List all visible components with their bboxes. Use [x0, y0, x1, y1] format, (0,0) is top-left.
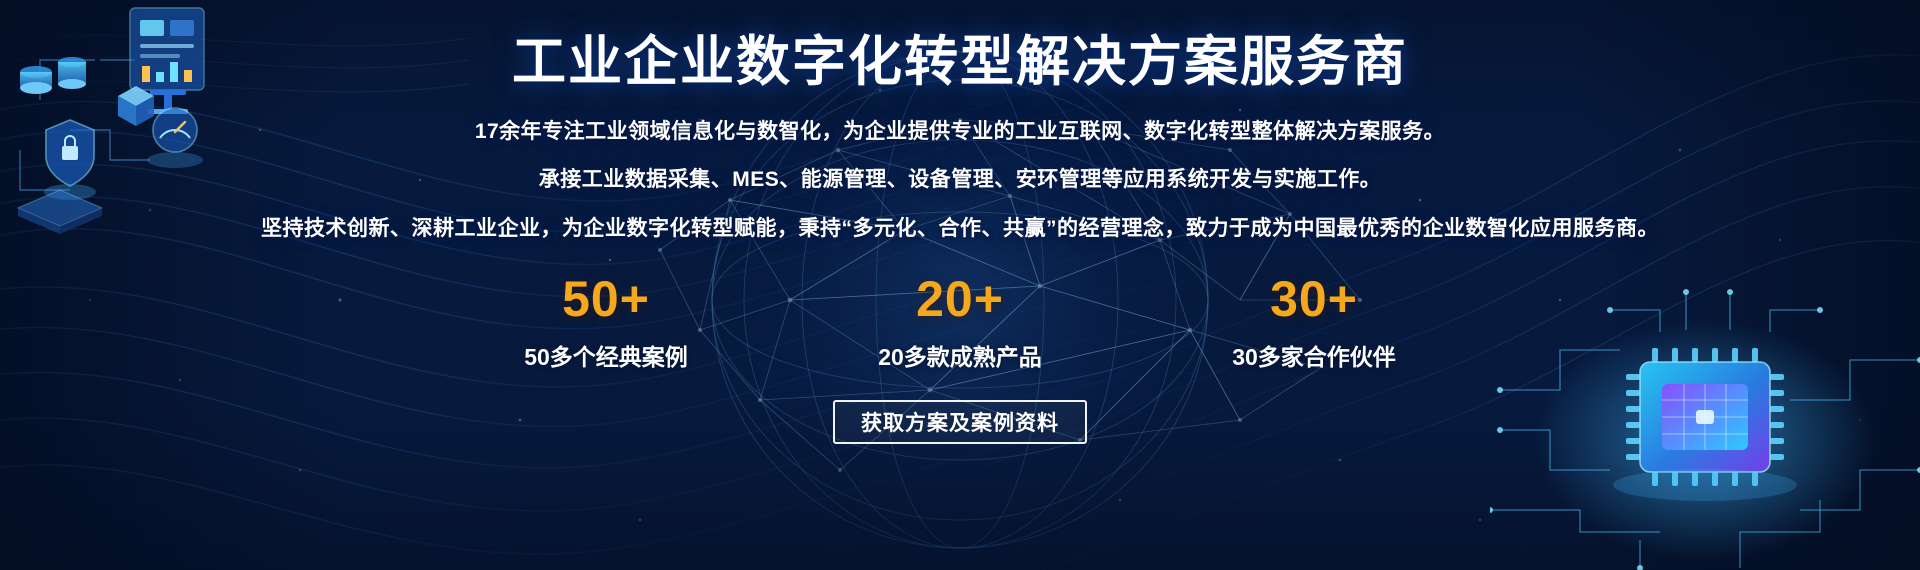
stat-label: 20多款成熟产品 — [878, 338, 1042, 372]
subtitle-line-1: 17余年专注工业领域信息化与数智化，为企业提供专业的工业互联网、数字化转型整体解… — [475, 115, 1445, 145]
stat-label: 30多家合作伙伴 — [1232, 338, 1396, 372]
get-materials-button[interactable]: 获取方案及案例资料 — [833, 400, 1087, 444]
hero-banner: 工业企业数字化转型解决方案服务商 17余年专注工业领域信息化与数智化，为企业提供… — [0, 0, 1920, 570]
stat-label: 50多个经典案例 — [524, 338, 688, 372]
stat-item-products: 20+ 20多款成熟产品 — [850, 274, 1070, 372]
stats-group: 50+ 50多个经典案例 20+ 20多款成熟产品 30+ 30多家合作伙伴 — [496, 274, 1424, 372]
subtitle-line-3: 坚持技术创新、深耕工业企业，为企业数字化转型赋能，秉持“多元化、合作、共赢”的经… — [261, 212, 1659, 242]
subtitle-line-2: 承接工业数据采集、MES、能源管理、设备管理、安环管理等应用系统开发与实施工作。 — [539, 163, 1382, 193]
stat-number: 20+ — [916, 274, 1004, 324]
page-title: 工业企业数字化转型解决方案服务商 — [512, 34, 1408, 91]
banner-content: 工业企业数字化转型解决方案服务商 17余年专注工业领域信息化与数智化，为企业提供… — [0, 0, 1920, 570]
stat-number: 50+ — [562, 274, 650, 324]
stat-item-cases: 50+ 50多个经典案例 — [496, 274, 716, 372]
stat-item-partners: 30+ 30多家合作伙伴 — [1204, 274, 1424, 372]
stat-number: 30+ — [1270, 274, 1358, 324]
